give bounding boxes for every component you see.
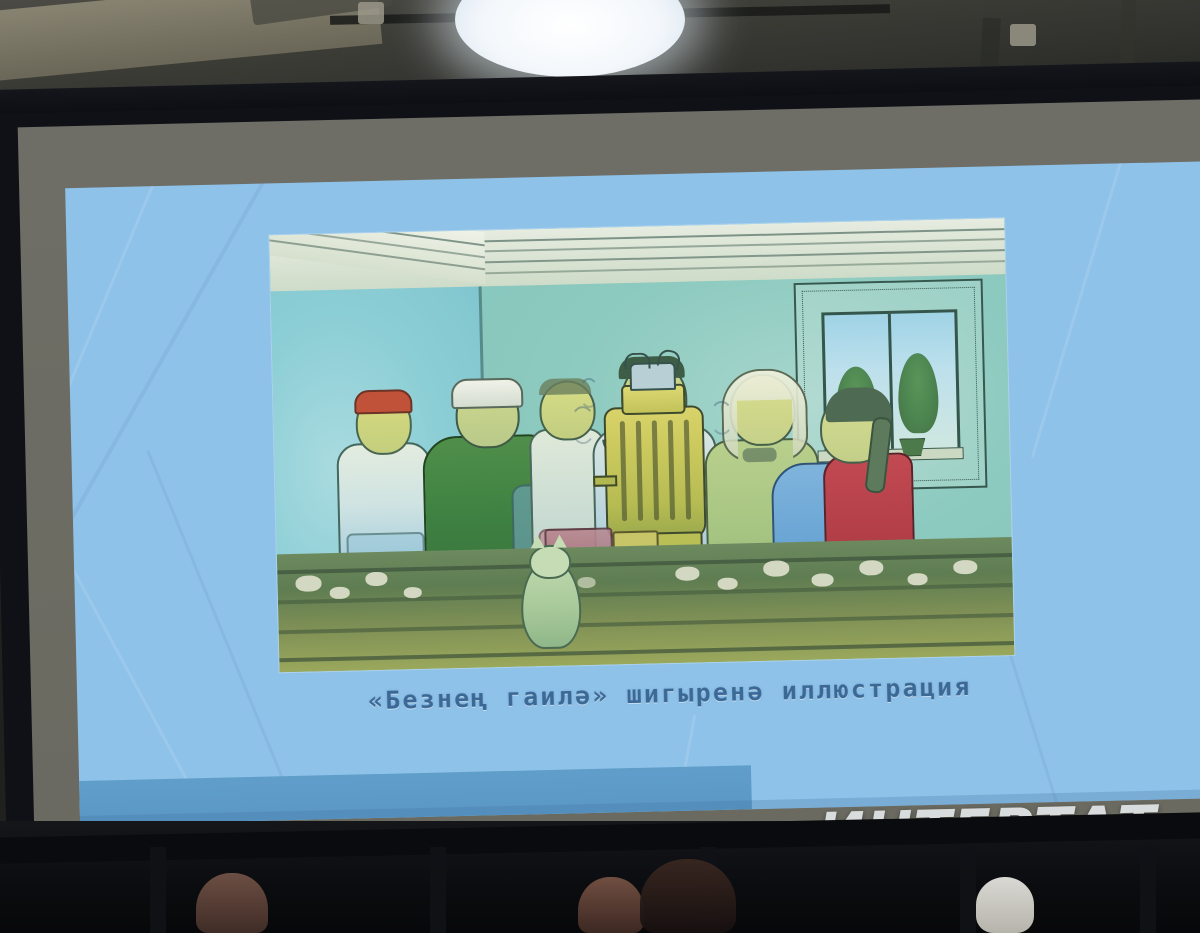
foreground-audience-area: [0, 821, 1200, 933]
teapot-handle: [624, 352, 650, 369]
foreground-post: [1140, 847, 1156, 933]
screen-mount-left: [358, 2, 384, 24]
audience-head: [196, 873, 268, 933]
foreground-post: [430, 847, 446, 933]
photo-of-projected-slide: «Безнең гаилә» шигыренә иллюстрация ИНТЕ…: [0, 0, 1200, 933]
screen-fabric-border: «Безнең гаилә» шигыренә иллюстрация: [18, 99, 1200, 853]
screen-crease: [65, 442, 210, 822]
audience-head-light: [976, 877, 1034, 933]
foreground-post: [960, 847, 976, 933]
samovar-tap: [593, 475, 617, 487]
cat-ear-right: [552, 535, 566, 548]
cat-ear-left: [530, 535, 544, 548]
audience-head: [578, 877, 644, 933]
slide-surface: «Безнең гаилә» шигыренә иллюстрация: [65, 160, 1200, 825]
screen-crease: [65, 164, 163, 553]
illustration-image: [269, 218, 1014, 672]
elder-turban: [451, 377, 524, 409]
boy-skullcap: [354, 389, 413, 414]
patterned-carpet: [277, 537, 1015, 672]
slide-caption: «Безнең гаилә» шигыренә иллюстрация: [77, 665, 1200, 722]
screen-crease: [1031, 160, 1128, 458]
foreground-post: [150, 847, 166, 933]
grandmother-collar: [742, 448, 776, 463]
screen-frame: «Безнең гаилә» шигыренә иллюстрация: [0, 85, 1200, 874]
audience-head: [640, 859, 736, 933]
potted-plant-right: [897, 353, 939, 434]
cat-head: [529, 544, 572, 579]
samovar-body: [603, 405, 706, 541]
projector-screen: «Безнең гаилә» шигыренә иллюстрация: [0, 27, 1200, 846]
